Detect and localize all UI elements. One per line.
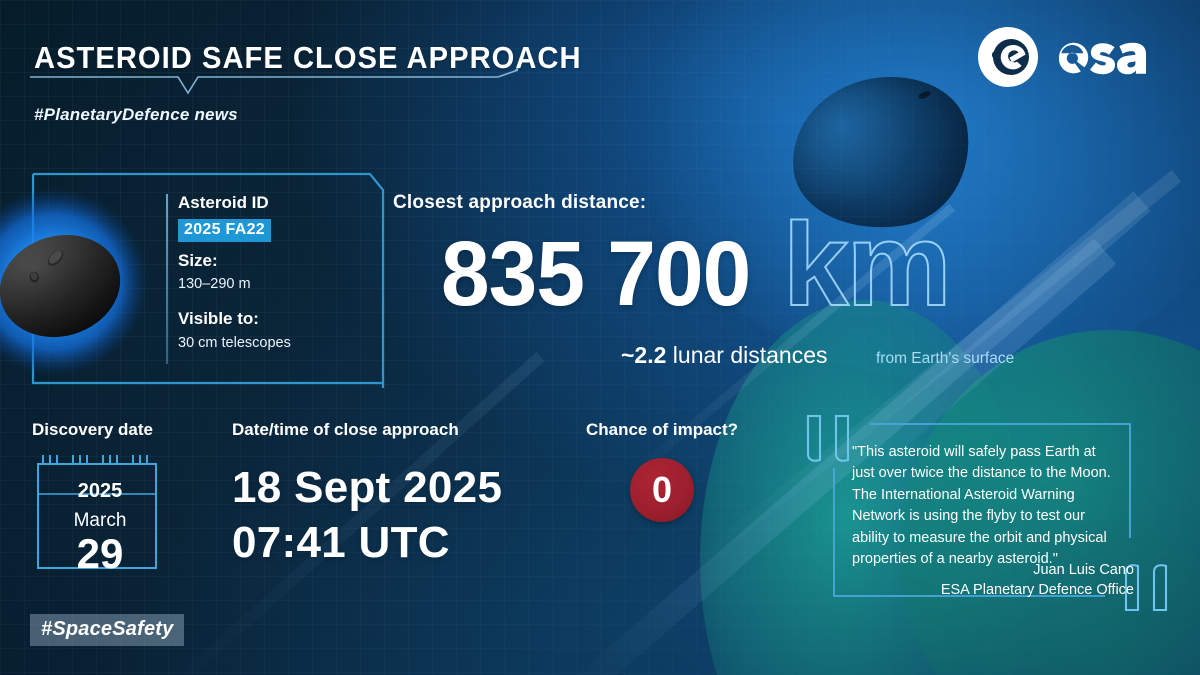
close-approach-datetime-label: Date/time of close approach — [232, 420, 552, 440]
quote-attribution: Juan Luis Cano ESA Planetary Defence Off… — [852, 560, 1134, 600]
quote-block: "This asteroid will safely pass Earth at… — [790, 410, 1190, 625]
discovery-month: March — [34, 510, 166, 532]
closest-approach-distance-value: 835 700 — [441, 228, 750, 320]
close-approach-datetime-block: Date/time of close approach 18 Sept 2025… — [232, 420, 552, 568]
subtitle: #PlanetaryDefence news — [34, 105, 238, 125]
chance-of-impact-block: Chance of impact? 0 — [572, 420, 752, 522]
close-approach-time: 07:41 UTC — [232, 518, 552, 567]
panel-divider-line — [166, 194, 168, 364]
quote-line: ability to measure the orbit and physica… — [852, 528, 1134, 549]
asteroid-details: Asteroid ID 2025 FA22 Size: 130–290 m Vi… — [178, 192, 383, 353]
quote-author: Juan Luis Cano — [852, 560, 1134, 580]
esa-logo — [977, 26, 1172, 88]
visible-to-value: 30 cm telescopes — [178, 333, 383, 353]
quote-line: Network is using the flyby to test our — [852, 506, 1134, 527]
quote-line: The International Asteroid Warning — [852, 485, 1134, 506]
asteroid-id-label: Asteroid ID — [178, 192, 383, 215]
discovery-date-label: Discovery date — [32, 420, 232, 440]
close-approach-date: 18 Sept 2025 — [232, 463, 552, 512]
lunar-distance-number: ~2.2 — [621, 342, 666, 368]
header: ASTEROID SAFE CLOSE APPROACH #PlanetaryD… — [0, 0, 1200, 140]
asteroid-id-panel: Asteroid ID 2025 FA22 Size: 130–290 m Vi… — [0, 172, 400, 390]
discovery-year: 2025 — [34, 480, 166, 503]
quote-text: "This asteroid will safely pass Earth at… — [852, 442, 1134, 571]
quote-affiliation: ESA Planetary Defence Office — [852, 580, 1134, 600]
visible-to-label: Visible to: — [178, 308, 383, 331]
chance-of-impact-label: Chance of impact? — [572, 420, 752, 440]
infographic-canvas: ASTEROID SAFE CLOSE APPROACH #PlanetaryD… — [0, 0, 1200, 675]
chance-of-impact-badge: 0 — [630, 458, 694, 522]
closest-approach-block: Closest approach distance: 835 700 km ~2… — [393, 192, 1093, 382]
size-value: 130–290 m — [178, 274, 383, 294]
closest-approach-label: Closest approach distance: — [393, 192, 1093, 214]
lunar-distance-unit: lunar distances — [666, 342, 827, 368]
distance-reference: from Earth's surface — [876, 350, 1014, 368]
distance-value-row: 835 700 km ~2.2 lunar distances from Ear… — [393, 232, 1093, 342]
discovery-day: 29 — [34, 532, 166, 576]
hashtag-space-safety: #SpaceSafety — [30, 614, 184, 646]
discovery-date-block: Discovery date 2025 March 29 — [32, 420, 232, 440]
size-label: Size: — [178, 250, 383, 273]
quote-line: just over twice the distance to the Moon… — [852, 463, 1134, 484]
title-underline-rule — [28, 68, 528, 100]
quote-line: "This asteroid will safely pass Earth at — [852, 442, 1134, 463]
asteroid-illustration — [0, 182, 162, 382]
chance-of-impact-value: 0 — [652, 472, 672, 508]
lunar-distance-equivalent: ~2.2 lunar distances — [621, 342, 828, 369]
asteroid-id-value: 2025 FA22 — [178, 219, 271, 242]
open-quote-icon — [808, 416, 848, 461]
distance-unit: km — [783, 206, 950, 324]
